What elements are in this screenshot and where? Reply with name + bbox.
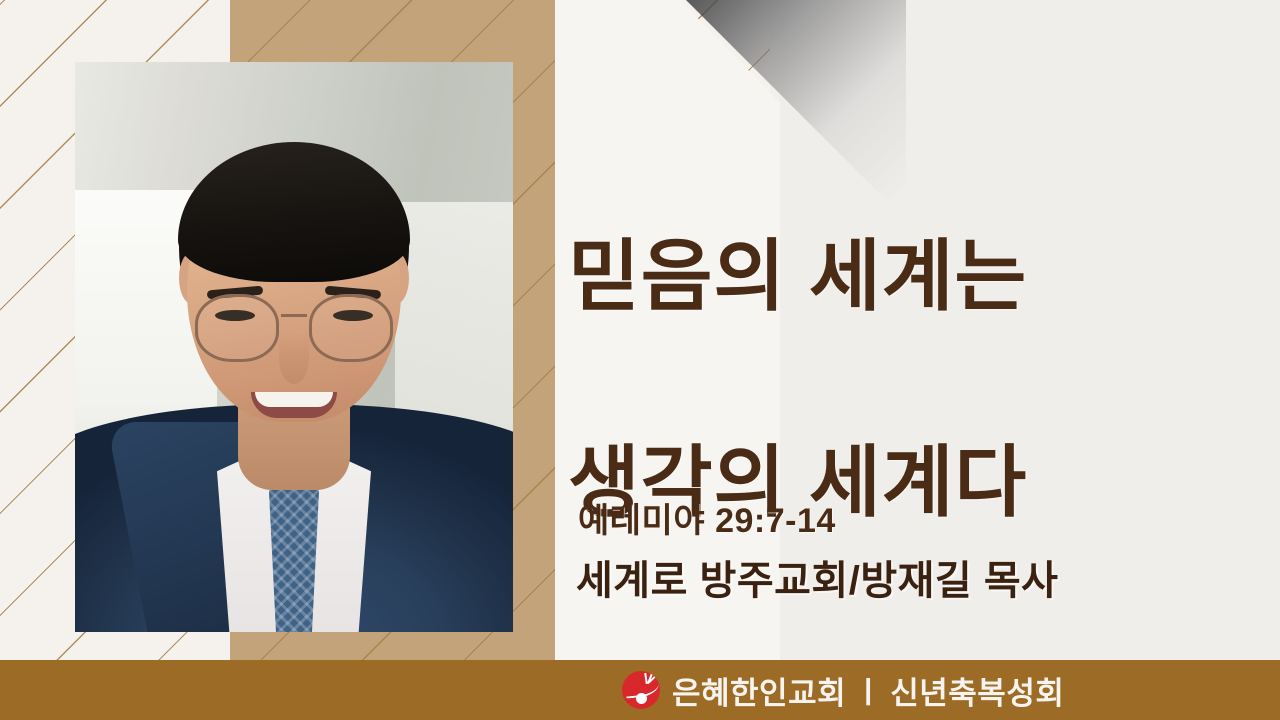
slide-canvas: 믿음의 세계는 생각의 세계다 예레미야 29:7-14 세계로 방주교회/방재… <box>0 0 1280 720</box>
speaker-portrait-photo <box>75 62 513 632</box>
portrait-glasses-right <box>309 294 393 362</box>
portrait-nose <box>279 332 309 384</box>
logo-dot <box>636 693 647 704</box>
footer-bar: 은혜한인교회 | 신년축복성회 <box>0 660 1280 720</box>
church-logo-icon <box>622 671 660 709</box>
portrait-glasses-left <box>195 294 279 362</box>
portrait-teeth <box>255 392 333 407</box>
portrait-glasses-bridge <box>281 314 307 317</box>
speaker-name: 세계로 방주교회/방재길 목사 <box>576 548 1058 606</box>
footer-church-name: 은혜한인교회 <box>672 668 846 713</box>
footer-content: 은혜한인교회 | 신년축복성회 <box>622 660 1064 720</box>
portrait-mouth <box>251 392 337 418</box>
scripture-reference: 예레미야 29:7-14 <box>578 493 836 542</box>
sermon-title-line-1: 믿음의 세계는 <box>568 225 1268 328</box>
footer-event-name: 신년축복성회 <box>890 668 1064 713</box>
footer-separator: | <box>858 674 878 707</box>
